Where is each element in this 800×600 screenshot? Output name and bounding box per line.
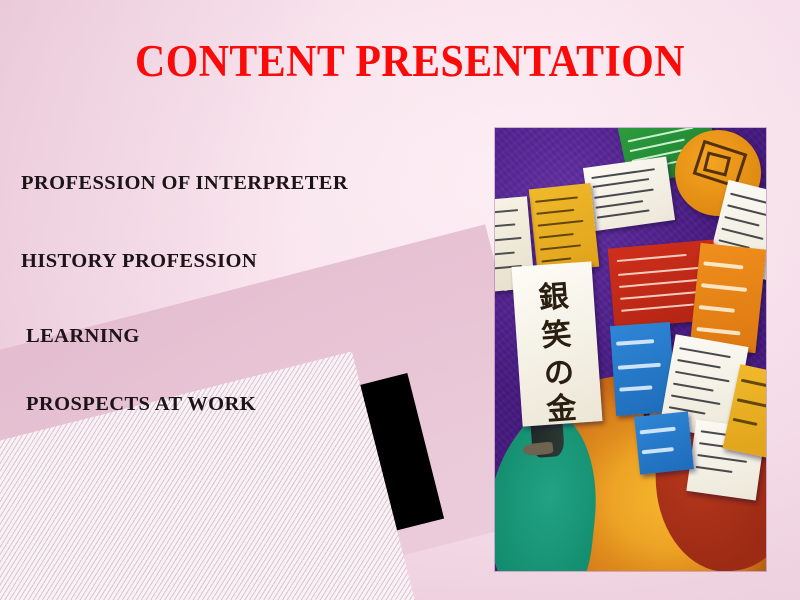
slide-title: CONTENT PRESENTATION bbox=[85, 38, 736, 85]
list-item[interactable]: HISTORY PROFESSION bbox=[21, 250, 257, 273]
language-sign bbox=[690, 243, 766, 353]
sign-glyph: 金 bbox=[545, 383, 578, 427]
list-item[interactable]: LEARNING bbox=[26, 325, 140, 348]
list-item[interactable]: PROFESSION OF INTERPRETER bbox=[21, 172, 348, 195]
presentation-slide: CONTENT PRESENTATION PROFESSION OF INTER… bbox=[0, 0, 800, 600]
language-sign bbox=[583, 156, 675, 231]
language-sign bbox=[529, 183, 599, 273]
language-sign bbox=[634, 411, 694, 474]
illustration-image: ? bbox=[495, 128, 766, 571]
language-sign-primary: 銀 笑 の 金 bbox=[512, 261, 603, 426]
list-item[interactable]: PROSPECTS AT WORK bbox=[26, 393, 256, 416]
